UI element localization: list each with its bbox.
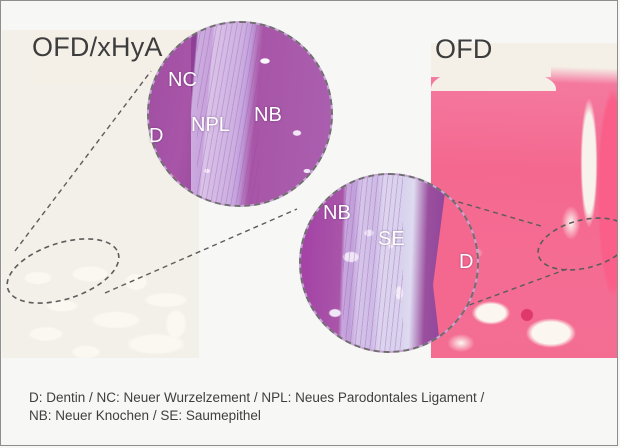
caption-line-2: NB: Neuer Knochen / SE: Saumepithel: [29, 407, 595, 425]
histology-figure: OFD/xHyA OFD D NC NPL NB NB SE D D: Dent…: [0, 0, 618, 446]
zoom-inset-right: [299, 173, 479, 353]
annotation-nb-right: NB: [323, 202, 351, 225]
zoom-inset-right-epithelium-fibers: [343, 173, 403, 353]
figure-caption: D: Dentin / NC: Neuer Wurzelzement / NPL…: [29, 389, 595, 425]
annotation-d-left: D: [149, 125, 163, 148]
caption-line-1: D: Dentin / NC: Neuer Wurzelzement / NPL…: [29, 389, 595, 407]
annotation-nb-left: NB: [254, 104, 282, 127]
panel-title-left: OFD/xHyA: [32, 32, 163, 63]
annotation-nc: NC: [168, 69, 197, 92]
panel-title-right: OFD: [435, 34, 493, 65]
tissue-trabecular-bone-left: [16, 266, 199, 358]
zoom-inset-left-pink-corner: [147, 159, 197, 207]
annotation-npl: NPL: [191, 114, 230, 137]
annotation-d-right: D: [459, 251, 473, 274]
annotation-se: SE: [378, 228, 405, 251]
